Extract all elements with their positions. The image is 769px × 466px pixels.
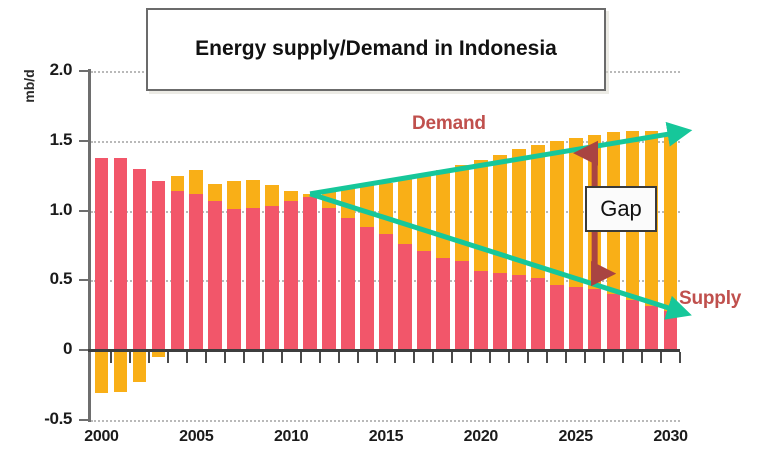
bar-segment-gap <box>474 160 488 270</box>
x-axis-tick-label: 2015 <box>356 428 416 446</box>
bar-segment-gap <box>133 350 147 382</box>
x-axis-tick-label: 2000 <box>71 428 131 446</box>
y-axis-tick-label: 0 <box>14 339 72 359</box>
x-axis-tick-label: 2025 <box>546 428 606 446</box>
bar-segment-gap <box>379 183 393 235</box>
x-axis-tick <box>470 352 472 363</box>
x-axis-tick <box>110 352 112 363</box>
bar-group <box>645 0 659 466</box>
bar-group <box>607 0 621 466</box>
x-axis-tick <box>603 352 605 363</box>
bar-segment-gap <box>531 145 545 278</box>
x-axis-tick <box>167 352 169 363</box>
x-axis-tick <box>319 352 321 363</box>
x-axis-tick <box>679 352 681 363</box>
x-axis-tick <box>300 352 302 363</box>
x-axis-tick <box>413 352 415 363</box>
x-axis-tick <box>224 352 226 363</box>
bar-segment-gap <box>360 185 374 227</box>
x-axis-tick <box>489 352 491 363</box>
bar-segment-supply <box>133 169 147 350</box>
y-axis-tick-label: 1.0 <box>14 200 72 220</box>
y-axis-title: mb/d <box>21 51 37 121</box>
bar-segment-supply <box>227 209 241 350</box>
bar-segment-supply <box>531 278 545 350</box>
y-axis-line <box>88 69 91 422</box>
x-axis-tick <box>641 352 643 363</box>
bar-segment-gap <box>303 194 317 197</box>
bar-segment-supply <box>607 294 621 350</box>
bar-segment-supply <box>322 208 336 350</box>
x-axis-tick <box>527 352 529 363</box>
x-axis-tick <box>508 352 510 363</box>
bar-segment-gap <box>417 174 431 251</box>
bar-segment-supply <box>152 181 166 350</box>
bar-segment-supply <box>379 234 393 350</box>
bar-segment-gap <box>455 165 469 261</box>
bar-segment-gap <box>493 155 507 274</box>
gap-annotation-box: Gap <box>585 186 657 232</box>
bar-segment-supply <box>455 261 469 350</box>
x-axis-tick <box>394 352 396 363</box>
supply-series-label: Supply <box>679 288 741 310</box>
x-axis-tick <box>451 352 453 363</box>
bar-segment-gap <box>246 180 260 208</box>
bar-segment-supply <box>512 275 526 350</box>
bar-group <box>133 0 147 466</box>
bar-segment-supply <box>398 244 412 350</box>
bar-segment-supply <box>341 218 355 350</box>
x-axis-tick <box>129 352 131 363</box>
bar-segment-gap <box>341 188 355 217</box>
bar-segment-supply <box>208 201 222 350</box>
x-axis-tick-label: 2010 <box>261 428 321 446</box>
bar-segment-gap <box>265 185 279 206</box>
x-axis-tick <box>205 352 207 363</box>
x-axis-tick <box>584 352 586 363</box>
bar-segment-gap <box>227 181 241 209</box>
bar-segment-gap <box>95 350 109 393</box>
bar-segment-supply <box>95 158 109 350</box>
bar-segment-gap <box>284 191 298 201</box>
y-axis-tick-label: 0.5 <box>14 269 72 289</box>
x-axis-tick <box>546 352 548 363</box>
x-axis-tick-label: 2030 <box>641 428 701 446</box>
bar-segment-supply <box>588 289 602 350</box>
bar-segment-supply <box>417 251 431 350</box>
x-axis-tick <box>262 352 264 363</box>
x-axis-tick <box>357 352 359 363</box>
bar-group <box>114 0 128 466</box>
bar-segment-supply <box>474 271 488 350</box>
y-axis-tick-label: -0.5 <box>14 409 72 429</box>
x-axis-tick <box>148 352 150 363</box>
bar-segment-supply <box>645 306 659 350</box>
bar-group <box>95 0 109 466</box>
bar-segment-gap <box>398 178 412 244</box>
bar-segment-supply <box>664 311 678 350</box>
bar-segment-gap <box>114 350 128 392</box>
x-axis-tick <box>622 352 624 363</box>
chart-container: 2.01.51.00.50-0.5 2000200520102015202020… <box>0 0 769 466</box>
x-axis-line <box>88 349 680 352</box>
bar-segment-gap <box>189 170 203 194</box>
x-axis-tick <box>432 352 434 363</box>
x-axis-tick-label: 2020 <box>451 428 511 446</box>
x-axis-tick <box>243 352 245 363</box>
bar-group <box>664 0 678 466</box>
bar-segment-gap <box>664 134 678 311</box>
bar-segment-gap <box>171 176 185 191</box>
x-axis-tick <box>565 352 567 363</box>
bar-segment-gap <box>436 170 450 258</box>
bar-segment-supply <box>114 158 128 350</box>
bar-segment-supply <box>550 285 564 350</box>
x-axis-tick <box>338 352 340 363</box>
bar-segment-supply <box>626 300 640 350</box>
bar-segment-supply <box>265 206 279 350</box>
bar-segment-supply <box>171 191 185 350</box>
bar-segment-supply <box>436 258 450 350</box>
bar-segment-supply <box>246 208 260 350</box>
y-axis-tick-label: 1.5 <box>14 130 72 150</box>
bar-segment-supply <box>569 287 583 350</box>
bar-segment-supply <box>493 273 507 350</box>
bar-segment-gap <box>569 138 583 287</box>
x-axis-tick <box>281 352 283 363</box>
chart-title: Energy supply/Demand in Indonesia <box>146 8 606 91</box>
bar-segment-gap <box>322 191 336 208</box>
bar-segment-supply <box>284 201 298 350</box>
bar-segment-supply <box>189 194 203 350</box>
bar-segment-gap <box>208 184 222 201</box>
x-axis-tick <box>660 352 662 363</box>
bar-segment-gap <box>550 141 564 285</box>
x-axis-tick <box>376 352 378 363</box>
bar-segment-gap <box>512 149 526 275</box>
x-axis-tick <box>186 352 188 363</box>
bar-segment-supply <box>360 227 374 350</box>
bar-segment-supply <box>303 197 317 350</box>
bar-group <box>626 0 640 466</box>
demand-series-label: Demand <box>412 113 486 135</box>
x-axis-tick-label: 2005 <box>166 428 226 446</box>
